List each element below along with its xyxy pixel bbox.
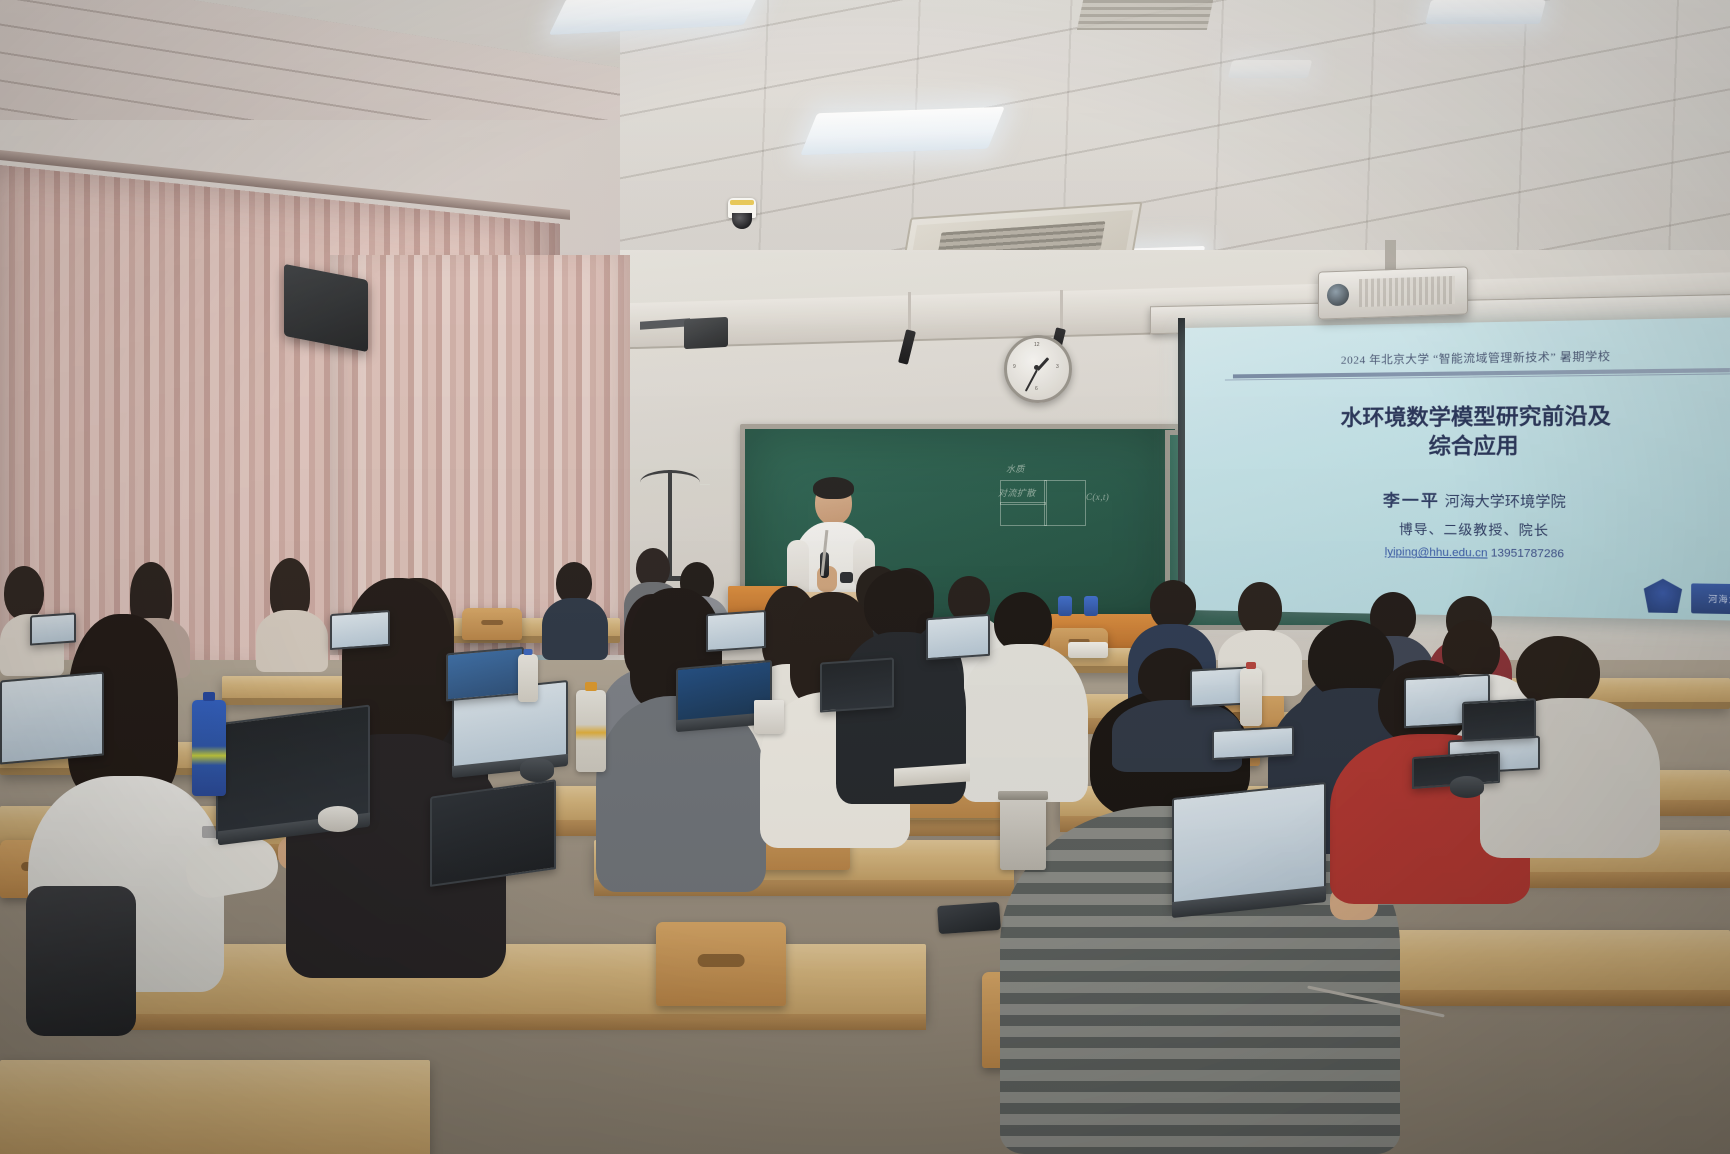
bottle-cap	[585, 682, 597, 691]
wall-speaker	[684, 317, 728, 349]
computer-mouse[interactable]	[1450, 776, 1484, 798]
slide-content: 2024 年北京大学 “智能流域管理新技术” 暑期学校 水环境数学模型研究前沿及…	[1185, 317, 1730, 622]
slide-email[interactable]: lyiping@hhu.edu.cn	[1385, 546, 1488, 560]
slide-logos: 河海大学	[1644, 578, 1730, 614]
bottle-cap	[203, 692, 215, 701]
chalk-note: 对流扩散	[998, 486, 1036, 499]
laptop[interactable]	[820, 657, 894, 712]
wall-clock: 12 3 6 9	[1004, 335, 1072, 403]
student-head	[1150, 580, 1196, 630]
student-desk	[0, 1060, 430, 1154]
ceiling-light	[1425, 0, 1546, 24]
ceiling-light	[800, 107, 1005, 155]
ceiling-vent-small	[1077, 0, 1213, 30]
hohai-university-crest-icon	[1644, 578, 1682, 613]
clock-hour-label: 3	[1056, 364, 1059, 370]
pull-cord[interactable]	[908, 292, 911, 334]
projection-screen-edge	[1178, 318, 1185, 588]
slide-phone: 13951787286	[1491, 548, 1564, 561]
projection-screen: 2024 年北京大学 “智能流域管理新技术” 暑期学校 水环境数学模型研究前沿及…	[1185, 317, 1730, 622]
slide-header-text: 2024 年北京大学 “智能流域管理新技术” 暑期学校	[1219, 345, 1730, 369]
laptop[interactable]	[0, 671, 104, 764]
laptop[interactable]	[30, 612, 76, 645]
laptop[interactable]	[446, 647, 524, 702]
backpack[interactable]	[26, 886, 136, 1036]
chalk-note: C(x,t)	[1086, 492, 1109, 502]
clock-center	[1034, 365, 1039, 370]
tissue-pack[interactable]	[1068, 642, 1108, 658]
student-head	[994, 592, 1052, 652]
slide-author-name: 李一平	[1383, 491, 1440, 511]
slide-author-line: 李一平 河海大学环境学院	[1219, 487, 1730, 514]
chalk-note: 水质	[1006, 462, 1025, 475]
slide-author-role: 博导、二级教授、院长	[1219, 518, 1730, 542]
clock-hour-label: 6	[1035, 386, 1038, 392]
clock-hour-label: 9	[1013, 364, 1016, 370]
slide-title: 水环境数学模型研究前沿及 综合应用	[1219, 400, 1730, 460]
water-bottle[interactable]	[1240, 668, 1262, 726]
bottle-cap	[1246, 662, 1256, 669]
paper-cup[interactable]	[754, 700, 784, 734]
dome-security-camera-icon	[728, 198, 756, 218]
laptop[interactable]	[330, 610, 390, 650]
slide-title-line-2: 综合应用	[1219, 430, 1730, 460]
student-head	[864, 570, 934, 640]
computer-mouse[interactable]	[520, 758, 554, 782]
slide-author-affiliation: 河海大学环境学院	[1445, 494, 1566, 511]
classroom-photo: 12 3 6 9 水质 对流扩散 C(x,t) — 2024 年北京大学 “智能…	[0, 0, 1730, 1154]
pull-cord[interactable]	[1060, 290, 1063, 330]
projector-lens-icon	[1327, 284, 1349, 307]
slide-title-line-1: 水环境数学模型研究前沿及	[1219, 400, 1730, 432]
laptop[interactable]	[706, 610, 766, 652]
presenter-hair	[813, 477, 854, 499]
computer-mouse[interactable]	[318, 806, 358, 832]
hohai-university-wordmark: 河海大学	[1691, 583, 1730, 614]
laptop[interactable]	[1462, 698, 1536, 742]
bottle-cap	[524, 649, 533, 655]
ceiling-projector	[1318, 266, 1468, 319]
laptop[interactable]	[430, 779, 556, 887]
coat-rack-arms	[640, 470, 700, 495]
smartphone[interactable]	[937, 902, 1001, 934]
student-desk	[1388, 930, 1730, 997]
water-bottle[interactable]	[192, 700, 226, 796]
laptop[interactable]	[1212, 726, 1294, 760]
chalk-note: —	[700, 478, 710, 490]
slide-contact-line: lyiping@hhu.edu.cn 13951787286	[1219, 545, 1730, 563]
water-bottle[interactable]	[576, 690, 606, 772]
student-head	[4, 566, 44, 620]
water-bottle[interactable]	[518, 654, 538, 702]
ceiling-light	[1228, 60, 1312, 78]
glass-jar[interactable]	[1000, 798, 1046, 870]
chair[interactable]	[656, 922, 786, 1006]
clock-hour-label: 12	[1034, 342, 1040, 348]
laptop[interactable]	[926, 614, 990, 660]
